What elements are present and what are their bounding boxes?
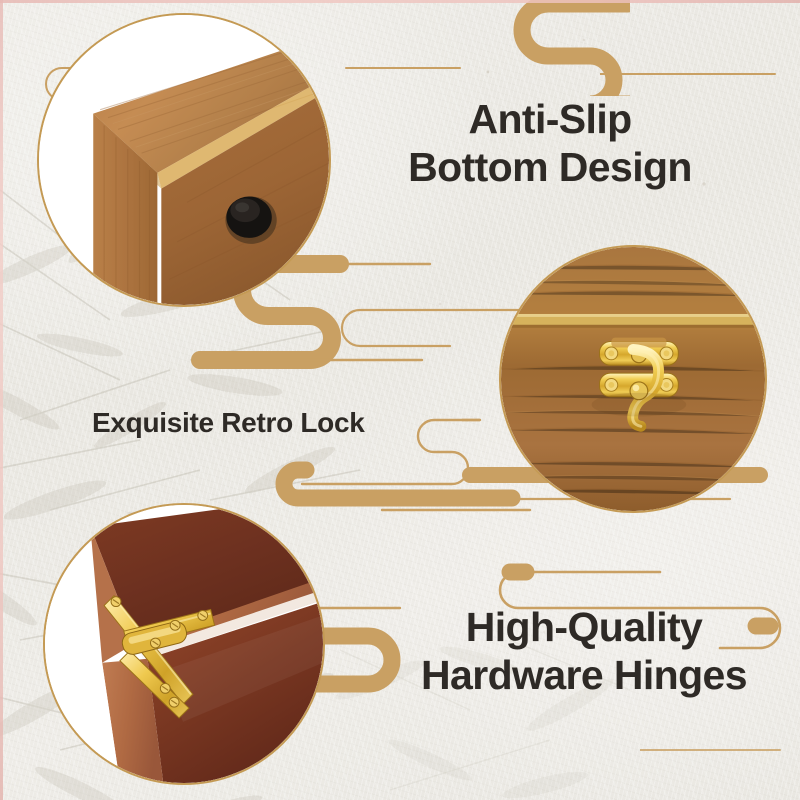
cloud-motif-middle-right [300,300,530,380]
retro-lock-photo-art [501,247,765,511]
left-edge-strip [0,0,3,800]
cloud-motif-bottom-tail [640,740,800,760]
feature-heading-hinges: High-Quality Hardware Hinges [382,604,786,699]
photo-wooden-box-corner-with-rubber-foot [37,13,331,307]
top-edge-strip [0,0,800,3]
hinges-photo-art [45,505,323,783]
photo-gold-retro-latch-clasp [499,245,767,513]
cloud-motif-top [340,0,630,96]
product-feature-infographic: Anti-Slip Bottom Design Exquisite Retro … [0,0,800,800]
photo-gold-hardware-hinge-inside-open-box [43,503,325,785]
feature-heading-retro-lock: Exquisite Retro Lock [92,407,452,439]
cloud-motif-top-tail [600,68,800,80]
anti-slip-photo-art [39,15,329,305]
feature-heading-anti-slip: Anti-Slip Bottom Design [348,96,752,191]
